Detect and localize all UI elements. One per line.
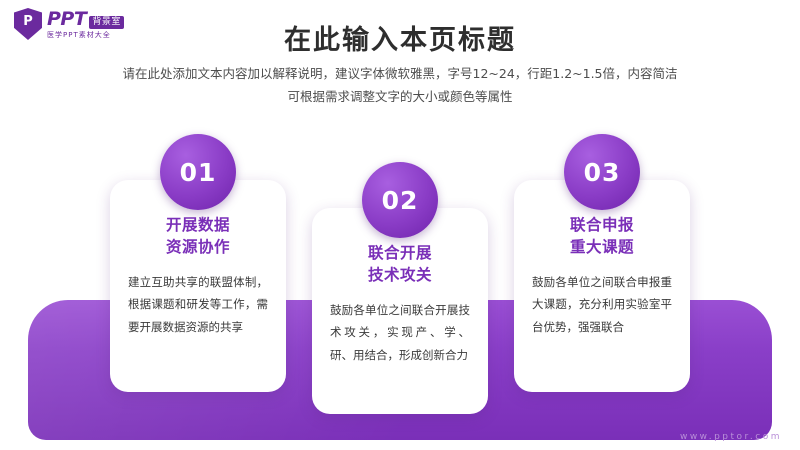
card-item-2[interactable]: 联合开展 技术攻关 鼓励各单位之间联合开展技术攻关，实现产、学、 研、用结合，形… — [312, 208, 488, 414]
footer-watermark-url: www.pptor.com — [680, 432, 782, 442]
card-number-badge-2: 02 — [362, 162, 438, 238]
card-heading-2: 联合开展 技术攻关 — [330, 242, 470, 287]
card-body-2: 鼓励各单位之间联合开展技术攻关，实现产、学、 研、用结合，形成创新合力 — [330, 299, 470, 366]
page-title: 在此输入本页标题 — [0, 18, 800, 57]
card-item-1[interactable]: 开展数据 资源协作 建立互助共享的联盟体制，根据课题和研发等工作，需要开展数据资… — [110, 180, 286, 392]
card-heading-3: 联合申报 重大课题 — [532, 214, 672, 259]
subtitle-line-1: 请在此处添加文本内容加以解释说明，建议字体微软雅黑，字号12~24，行距1.2~… — [0, 62, 800, 85]
card-body-3: 鼓励各单位之间联合申报重大课题，充分利用实验室平台优势，强强联合 — [532, 271, 672, 338]
card-heading-1: 开展数据 资源协作 — [128, 214, 268, 259]
card-number-badge-1: 01 — [160, 134, 236, 210]
card-item-3[interactable]: 联合申报 重大课题 鼓励各单位之间联合申报重大课题，充分利用实验室平台优势，强强… — [514, 180, 690, 392]
subtitle-line-2: 可根据需求调整文字的大小或颜色等属性 — [0, 85, 800, 108]
card-number-badge-3: 03 — [564, 134, 640, 210]
card-body-1: 建立互助共享的联盟体制，根据课题和研发等工作，需要开展数据资源的共享 — [128, 271, 268, 338]
page-subtitle: 请在此处添加文本内容加以解释说明，建议字体微软雅黑，字号12~24，行距1.2~… — [0, 62, 800, 108]
